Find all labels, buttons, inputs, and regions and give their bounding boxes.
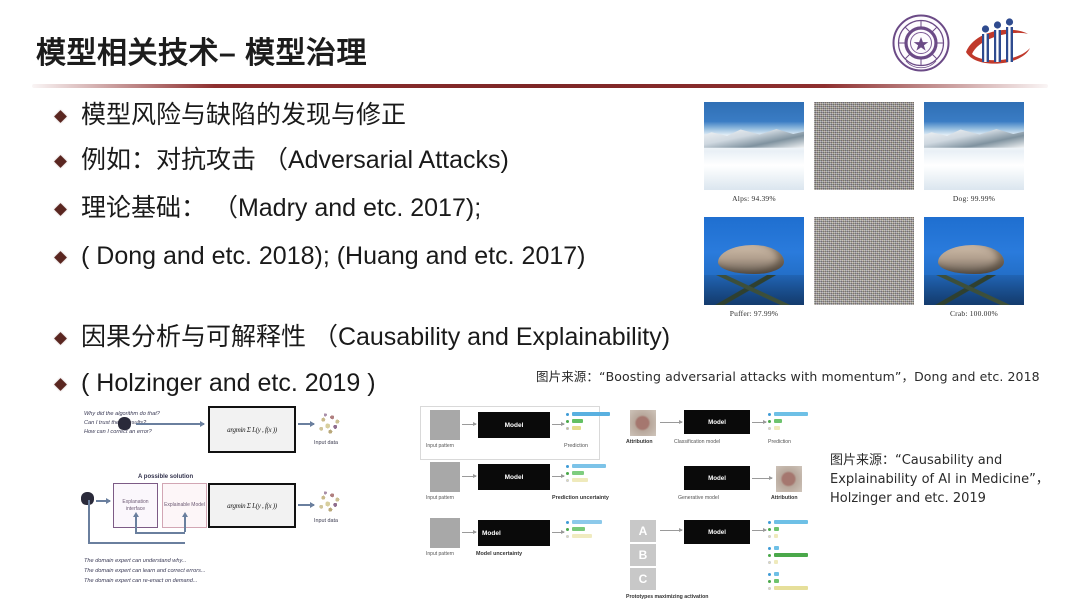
input-data-icon-2 (316, 490, 342, 514)
image-caption: Dog: 99.99% (924, 194, 1024, 203)
arrow-model-to-output (752, 422, 766, 423)
diamond-bullet-icon (54, 203, 67, 216)
model-box: Model (478, 464, 550, 490)
arrow-input-to-model (462, 476, 476, 477)
input-pattern-swatch (430, 410, 460, 440)
page-title: 模型相关技术– 模型治理 (36, 28, 367, 72)
feedback-return-line (88, 500, 90, 543)
diamond-bullet-icon (54, 155, 67, 168)
activation-bar (768, 520, 814, 524)
model-formula: argmin Σ L(y , f(x )) (210, 485, 294, 526)
arrow-input-to-model (462, 424, 476, 425)
institute-logo-icon (960, 14, 1034, 72)
slide-header: 模型相关技术– 模型治理 (0, 0, 1080, 92)
bullet-item-1: 例如：对抗攻击 （Adversarial Attacks) (56, 145, 509, 176)
input-data-icon-1 (316, 412, 342, 436)
prediction-uncertainty-bars (566, 464, 614, 486)
bullet-item-4: 因果分析与可解释性 （Causability and Explainabilit… (56, 322, 670, 353)
adversarial-cell-original: Puffer: 97.99% (704, 217, 804, 318)
attribution-label: Attribution (771, 495, 798, 501)
activation-bar (768, 572, 814, 576)
output-label: Model uncertainty (476, 551, 522, 557)
adversarial-cell-attacked: Dog: 99.99% (924, 102, 1024, 203)
model-uncertainty-bars (566, 520, 614, 542)
explainable-ai-diagram: Why did the algorithm do that? Can I tru… (58, 404, 408, 602)
activation-bar (768, 586, 814, 590)
source-citation-adversarial: 图片来源：“Boosting adversarial attacks with … (536, 366, 1040, 385)
prediction-bars (566, 412, 614, 434)
input-pattern-swatch (430, 462, 460, 492)
human-head-icon (118, 417, 131, 430)
adversarial-example-grid: Alps: 94.39% Dog: 99.99% Puffer: 97.99% (704, 102, 1028, 332)
arrow-model-to-activations (752, 530, 766, 531)
bullet-label: 理论基础： （Madry and etc. 2017); (81, 193, 481, 224)
adversarial-row-0: Alps: 94.39% Dog: 99.99% (704, 102, 1028, 217)
footer-line: The domain expert can re-enact on demand… (84, 576, 206, 586)
prototype-letter-c: C (630, 568, 656, 590)
image-caption: Alps: 94.39% (704, 194, 804, 203)
prediction-bar (768, 426, 814, 430)
black-box-model-1: argmin Σ L(y , f(x )) (208, 406, 296, 453)
black-box-model-2: argmin Σ L(y , f(x )) (208, 483, 296, 528)
arrow-input-to-model (462, 532, 476, 533)
model-box: Model (478, 412, 550, 438)
bullet-item-2: 理论基础： （Madry and etc. 2017); (56, 193, 481, 224)
input-pattern-label: Input pattern (426, 551, 454, 557)
attribution-thumbnail (630, 410, 656, 436)
arrow-data-to-model-1 (298, 423, 314, 425)
arrow-model-to-human (136, 423, 204, 425)
prototype-letter-b: B (630, 544, 656, 566)
model-sublabel: Classification model (674, 439, 720, 445)
input-pattern-swatch (430, 518, 460, 548)
diamond-bullet-icon (54, 378, 67, 391)
activation-bar (768, 527, 814, 531)
activation-bars-a (768, 520, 814, 541)
puffer-photo-image (704, 217, 804, 305)
activation-bar (768, 546, 814, 550)
adversarial-row-1: Puffer: 97.99% Crab: 100.00% (704, 217, 1028, 332)
possible-solution-label: A possible solution (138, 474, 193, 480)
arrow-model-to-output (552, 532, 564, 533)
attribution-label: Attribution (626, 439, 653, 445)
output-label: Prediction (564, 443, 588, 449)
prediction-bar (566, 419, 614, 423)
bullet-label: 因果分析与可解释性 （Causability and Explainabilit… (81, 322, 670, 353)
prediction-bar (768, 412, 814, 416)
model-box: Model (684, 520, 750, 544)
image-caption: Crab: 100.00% (924, 309, 1024, 318)
diamond-bullet-icon (54, 251, 67, 264)
bullet-item-3: ( Dong and etc. 2018); (Huang and etc. 2… (56, 241, 586, 272)
arrow-model-to-output (552, 476, 564, 477)
adversarial-cell-attacked: Crab: 100.00% (924, 217, 1024, 318)
output-label: Prediction uncertainty (552, 495, 609, 501)
bullet-label: 模型风险与缺陷的发现与修正 (81, 100, 406, 131)
bullet-label: ( Holzinger and etc. 2019 ) (81, 368, 376, 399)
model-box: Model (478, 520, 550, 546)
alps-photo-image (704, 102, 804, 190)
prediction-bar (566, 534, 614, 538)
activation-bar (768, 560, 814, 564)
footer-line: The domain expert can understand why... (84, 556, 206, 566)
arrow-interface-to-human (96, 500, 110, 502)
diamond-bullet-icon (54, 110, 67, 123)
feedback-arrow-interface (135, 516, 137, 532)
feedback-branch-line (135, 532, 185, 534)
bullet-item-0: 模型风险与缺陷的发现与修正 (56, 100, 406, 131)
model-formula: argmin Σ L(y , f(x )) (210, 408, 294, 451)
input-data-label-2: Input data (314, 518, 338, 524)
attribution-thumbnail (776, 466, 802, 492)
prediction-bars (768, 412, 814, 433)
model-box: Model (684, 466, 750, 490)
attribution-diagram: Attribution Model Classification model P… (626, 406, 826, 596)
uncertainty-diagram: Input pattern Model Prediction Input pat… (424, 406, 624, 596)
university-seal-icon (892, 14, 950, 72)
puffer-adversarial-image (924, 217, 1024, 305)
prediction-label: Prediction (768, 439, 791, 445)
activation-bar (768, 534, 814, 538)
diamond-bullet-icon (54, 332, 67, 345)
uncertainty-row-2: Input pattern Model (424, 518, 624, 564)
bullet-label: 例如：对抗攻击 （Adversarial Attacks) (81, 145, 509, 176)
prediction-bar (768, 419, 814, 423)
perturbation-noise-image (814, 102, 914, 190)
prediction-bar (566, 412, 614, 416)
activation-bar (768, 553, 814, 557)
prediction-bar (566, 520, 614, 524)
feedback-bus-line (88, 542, 185, 544)
prediction-bar (566, 478, 614, 482)
adversarial-cell-original: Alps: 94.39% (704, 102, 804, 203)
prediction-bar (566, 464, 614, 468)
feedback-arrow-model (184, 516, 186, 532)
bullet-item-5: ( Holzinger and etc. 2019 ) (56, 368, 376, 399)
prediction-bar (566, 527, 614, 531)
perturbation-noise-image (814, 217, 914, 305)
uncertainty-row-0: Input pattern Model Prediction (424, 410, 624, 456)
title-divider (32, 84, 1048, 88)
arrow-input-to-model (660, 422, 682, 423)
arrow-model-to-output (552, 424, 564, 425)
input-data-label-1: Input data (314, 440, 338, 446)
model-box-label: Model (482, 530, 501, 537)
input-pattern-label: Input pattern (426, 443, 454, 449)
alps-adversarial-image (924, 102, 1024, 190)
activation-bars-b (768, 546, 814, 567)
model-box: Model (684, 410, 750, 434)
diagram-strip: Why did the algorithm do that? Can I tru… (0, 398, 1080, 608)
prototype-letter-a: A (630, 520, 656, 542)
slide-canvas: 模型相关技术– 模型治理 (0, 0, 1080, 608)
arrow-prototypes-to-model (660, 530, 682, 531)
explanation-interface-label: Explanation interface (114, 499, 157, 513)
image-caption: Puffer: 97.99% (704, 309, 804, 318)
explainable-model-label: Explainable Model (164, 502, 205, 509)
arrow-data-to-model-2 (298, 504, 314, 506)
activation-bar (768, 579, 814, 583)
prototypes-label: Prototypes maximizing activation (626, 594, 708, 600)
logo-group (892, 14, 1034, 72)
uncertainty-row-1: Input pattern Model Prediction uncertain… (424, 462, 624, 508)
bullet-label: ( Dong and etc. 2018); (Huang and etc. 2… (81, 241, 586, 272)
adversarial-cell-perturbation (814, 102, 914, 194)
input-pattern-label: Input pattern (426, 495, 454, 501)
footer-line: The domain expert can learn and correct … (84, 566, 206, 576)
prediction-bar (566, 426, 614, 430)
adversarial-cell-perturbation (814, 217, 914, 309)
diagram-footer-notes: The domain expert can understand why... … (84, 556, 206, 586)
prediction-bar (566, 471, 614, 475)
model-sublabel: Generative model (678, 495, 719, 501)
activation-bars-c (768, 572, 814, 593)
arrow-model-to-attribution (752, 478, 772, 479)
